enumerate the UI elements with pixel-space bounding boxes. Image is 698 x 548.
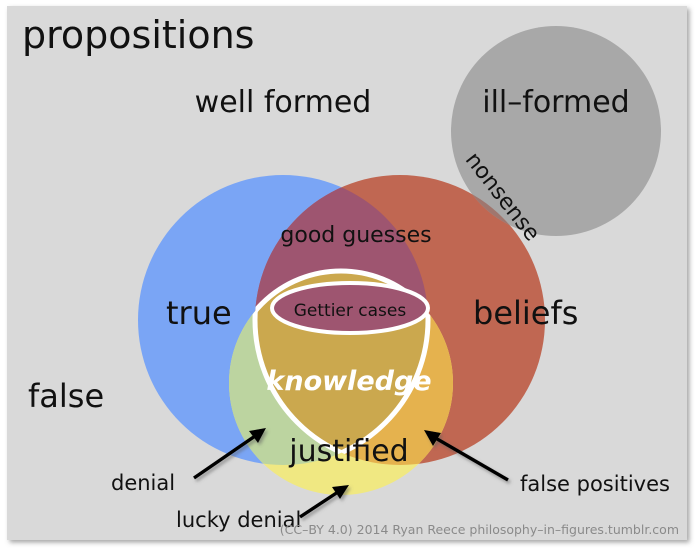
callout-label-false-positives: false positives — [520, 472, 670, 496]
label-gettier-cases: Gettier cases — [294, 301, 407, 321]
label-ill-formed: ill–formed — [482, 85, 629, 120]
label-good-guesses: good guesses — [280, 223, 431, 248]
label-beliefs: beliefs — [473, 294, 578, 332]
page-title: propositions — [22, 13, 254, 57]
credit-line: (CC–BY 4.0) 2014 Ryan Reece philosophy–i… — [280, 522, 679, 537]
callout-label-denial: denial — [111, 471, 175, 495]
label-false: false — [28, 377, 104, 415]
label-true: true — [166, 294, 232, 332]
label-knowledge: knowledge — [266, 366, 431, 397]
venn-diagram-canvas: propositions well formed ill–formed good… — [0, 0, 698, 548]
label-justified: justified — [288, 434, 408, 469]
venn-diagram-figure: propositions well formed ill–formed good… — [0, 0, 698, 548]
label-well-formed: well formed — [195, 85, 372, 120]
